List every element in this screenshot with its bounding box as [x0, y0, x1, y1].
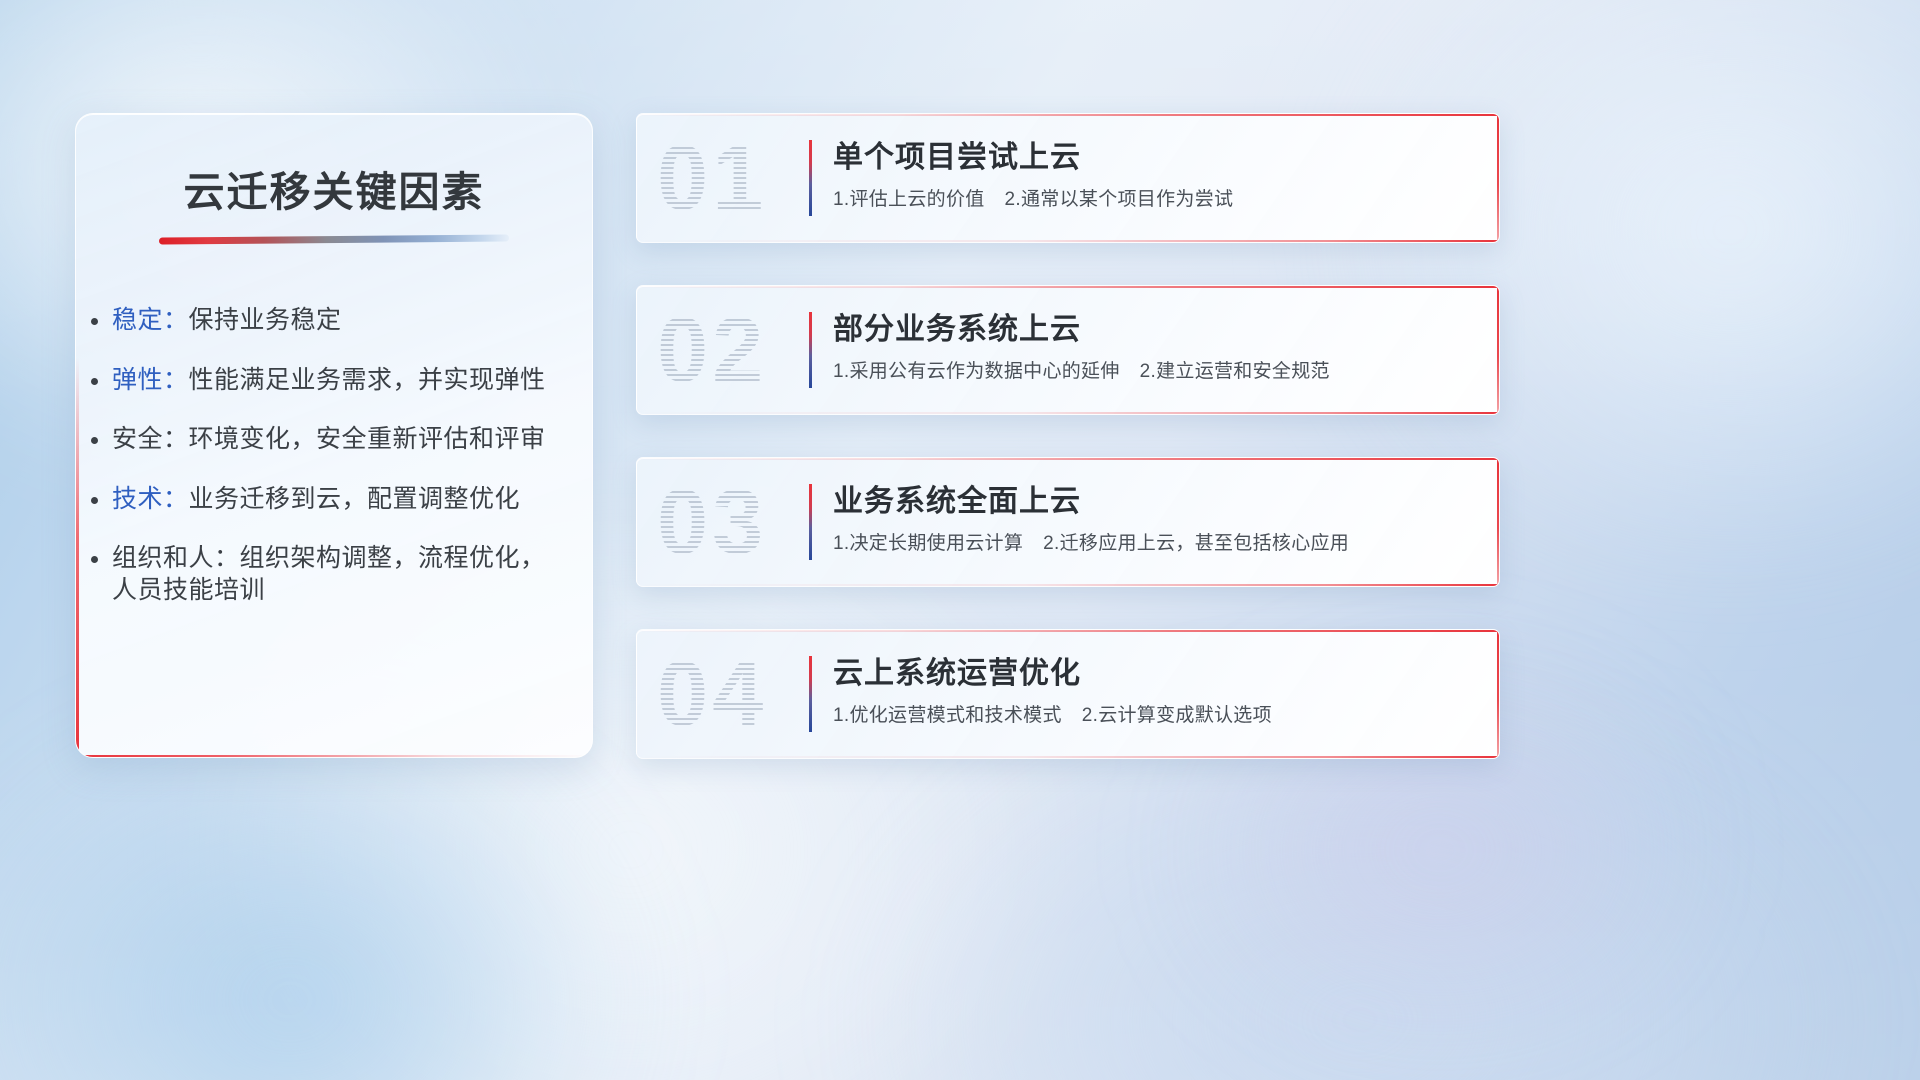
stage-point: 1.评估上云的价值 [833, 189, 985, 210]
factor-description: 保持业务稳定 [189, 306, 342, 334]
stage-point: 2.建立运营和安全规范 [1140, 361, 1330, 382]
factor-label: 弹性： [112, 366, 189, 394]
stage-point: 1.决定长期使用云计算 [833, 533, 1023, 554]
factor-label: 稳定： [112, 306, 189, 334]
stage-card-body: 业务系统全面上云1.决定长期使用云计算2.迁移应用上云，甚至包括核心应用 [833, 485, 1473, 555]
stage-card-description: 1.评估上云的价值2.通常以某个项目作为尝试 [833, 189, 1473, 212]
stage-point: 2.云计算变成默认选项 [1082, 705, 1272, 726]
accent-bar [809, 312, 812, 388]
page-title: 云迁移关键因素 [76, 158, 592, 218]
accent-bar [809, 140, 812, 216]
accent-bar [809, 484, 812, 560]
stage-card-list: 01单个项目尝试上云1.评估上云的价值2.通常以某个项目作为尝试02部分业务系统… [636, 113, 1500, 759]
card-bottom-rule [637, 584, 1499, 586]
stage-card-title: 单个项目尝试上云 [833, 141, 1473, 175]
stage-card-title: 云上系统运营优化 [833, 657, 1473, 691]
stage-card-title: 业务系统全面上云 [833, 485, 1473, 519]
factor-label: 技术： [112, 485, 189, 513]
card-bottom-rule [637, 412, 1499, 414]
factor-description: 性能满足业务需求，并实现弹性 [189, 366, 546, 394]
stage-point: 2.迁移应用上云，甚至包括核心应用 [1043, 533, 1349, 554]
stage-number-watermark: 04 [657, 648, 767, 740]
factor-item: 弹性：性能满足业务需求，并实现弹性 [112, 365, 562, 397]
factor-description: 环境变化，安全重新评估和评审 [189, 425, 546, 453]
factor-label: 组织和人： [112, 544, 240, 572]
factor-item: 技术：业务迁移到云，配置调整优化 [112, 484, 562, 516]
stage-card-title: 部分业务系统上云 [833, 313, 1473, 347]
factor-item: 安全：环境变化，安全重新评估和评审 [112, 424, 562, 456]
stage-card-body: 单个项目尝试上云1.评估上云的价值2.通常以某个项目作为尝试 [833, 141, 1473, 211]
card-bottom-rule [637, 240, 1499, 242]
stage-point: 1.优化运营模式和技术模式 [833, 705, 1062, 726]
stage-card-description: 1.采用公有云作为数据中心的延伸2.建立运营和安全规范 [833, 361, 1473, 384]
factor-item: 组织和人：组织架构调整，流程优化，人员技能培训 [112, 543, 562, 606]
stage-card-body: 云上系统运营优化1.优化运营模式和技术模式2.云计算变成默认选项 [833, 657, 1473, 727]
stage-number-watermark: 01 [657, 132, 767, 224]
stage-number-watermark: 02 [657, 304, 767, 396]
stage-number-watermark: 03 [657, 476, 767, 568]
factor-list: 稳定：保持业务稳定弹性：性能满足业务需求，并实现弹性安全：环境变化，安全重新评估… [76, 305, 592, 606]
stage-card-description: 1.决定长期使用云计算2.迁移应用上云，甚至包括核心应用 [833, 533, 1473, 556]
stage-card[interactable]: 03业务系统全面上云1.决定长期使用云计算2.迁移应用上云，甚至包括核心应用 [636, 457, 1500, 587]
stage-card[interactable]: 02部分业务系统上云1.采用公有云作为数据中心的延伸2.建立运营和安全规范 [636, 285, 1500, 415]
title-underline-gradient [159, 234, 509, 244]
factor-description: 业务迁移到云，配置调整优化 [189, 485, 521, 513]
key-factors-panel: 云迁移关键因素 稳定：保持业务稳定弹性：性能满足业务需求，并实现弹性安全：环境变… [75, 113, 593, 758]
stage-point: 1.采用公有云作为数据中心的延伸 [833, 361, 1120, 382]
accent-bar [809, 656, 812, 732]
stage-card-body: 部分业务系统上云1.采用公有云作为数据中心的延伸2.建立运营和安全规范 [833, 313, 1473, 383]
stage-card[interactable]: 01单个项目尝试上云1.评估上云的价值2.通常以某个项目作为尝试 [636, 113, 1500, 243]
factor-label: 安全： [112, 425, 189, 453]
card-bottom-rule [637, 756, 1499, 758]
stage-card-description: 1.优化运营模式和技术模式2.云计算变成默认选项 [833, 705, 1473, 728]
stage-point: 2.通常以某个项目作为尝试 [1005, 189, 1234, 210]
factor-item: 稳定：保持业务稳定 [112, 305, 562, 337]
stage-card[interactable]: 04云上系统运营优化1.优化运营模式和技术模式2.云计算变成默认选项 [636, 629, 1500, 759]
